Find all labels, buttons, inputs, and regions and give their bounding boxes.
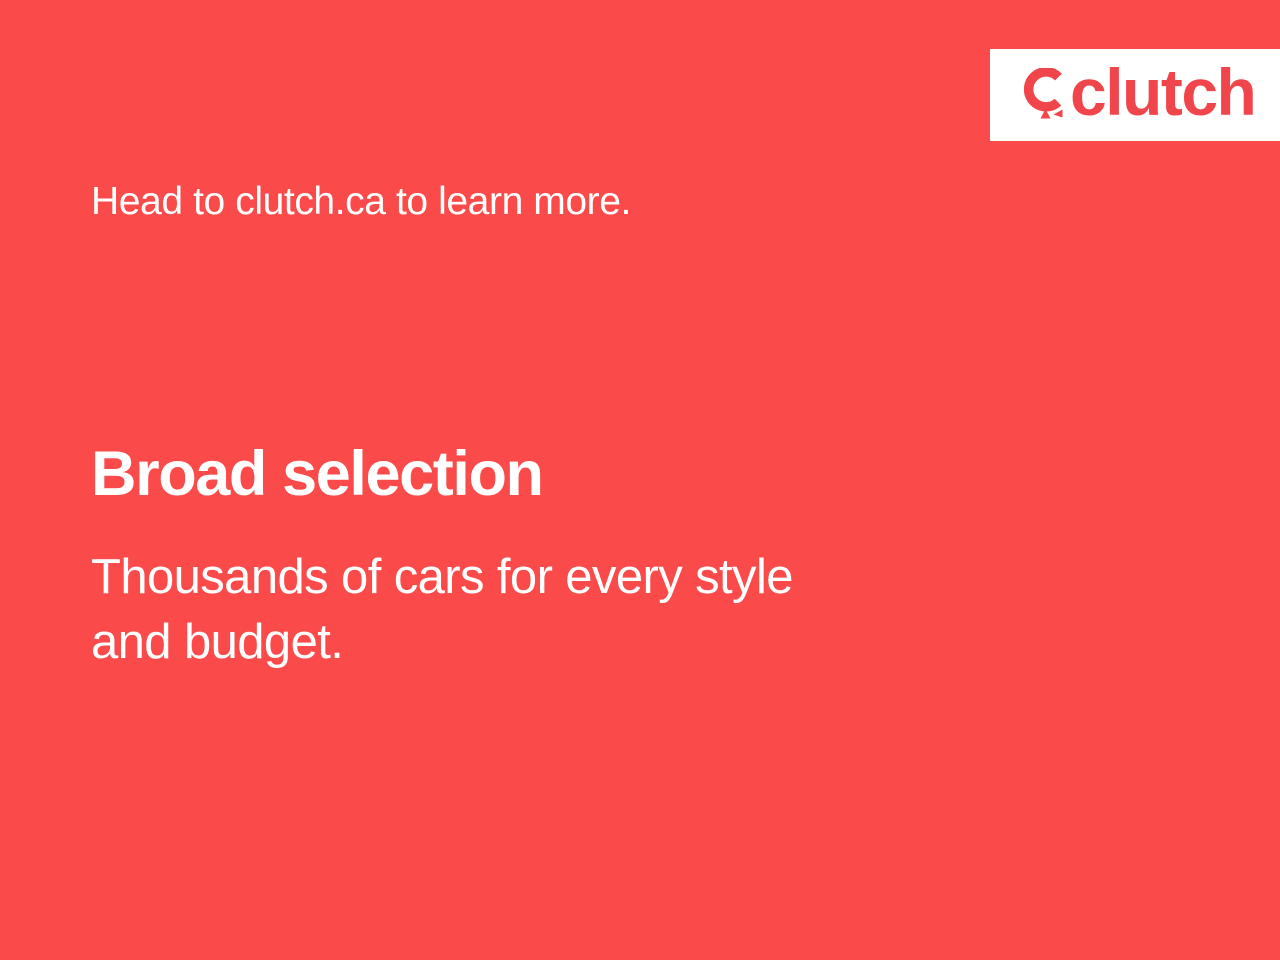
slide-canvas: clutch Head to clutch.ca to learn more. … xyxy=(0,0,1280,960)
brand-logo-lockup[interactable]: clutch xyxy=(1024,65,1255,125)
subhead-text: Thousands of cars for every style and bu… xyxy=(91,545,1051,675)
brand-logo-plate: clutch xyxy=(990,49,1280,141)
kicker-text: Head to clutch.ca to learn more. xyxy=(91,180,631,224)
subhead-line: Thousands of cars for every style xyxy=(91,545,1051,610)
brand-wordmark: clutch xyxy=(1070,59,1255,125)
clutch-c-mark-icon xyxy=(1024,68,1068,122)
page-title: Broad selection xyxy=(91,440,543,508)
subhead-line: and budget. xyxy=(91,610,1051,675)
